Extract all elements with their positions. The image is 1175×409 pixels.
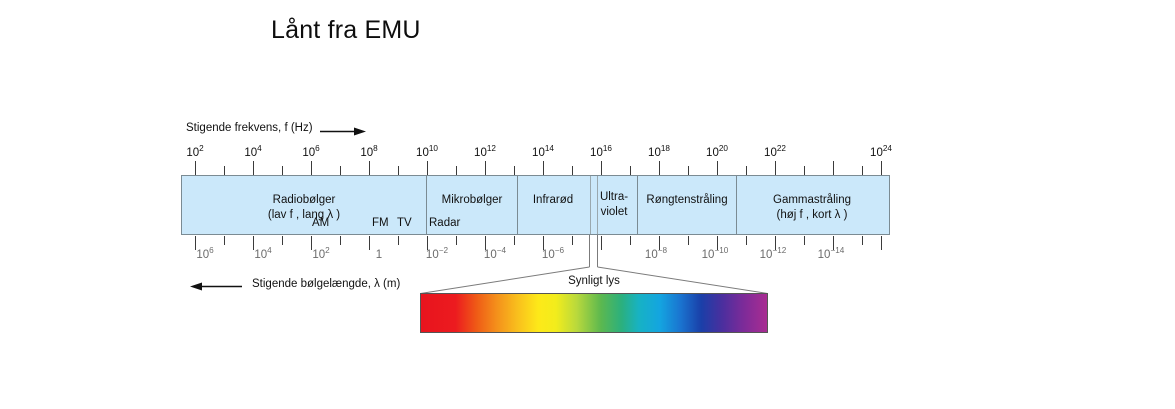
tick-minor [862,166,863,175]
band-label-infrared-main: Infrarød [533,193,573,207]
exponent: 8 [373,144,378,153]
band-label-microwave-main: Mikrobølger [442,193,503,207]
wave-tick-label: 10−12 [760,249,787,261]
tick-minor [282,236,283,245]
exponent: 16 [603,144,612,153]
visible-light-sliver [590,176,598,234]
tick-major [543,161,544,175]
band-divider-uv-xray [637,176,638,234]
mantissa: 1 [376,249,382,261]
wave-tick-label: 1 [376,249,382,261]
tick-major [195,161,196,175]
tick-major [311,236,312,250]
exponent: 10 [429,144,438,153]
exponent: −2 [439,246,448,255]
freq-tick-label: 102 [186,147,203,159]
tick-major [833,161,834,175]
tick-major [369,161,370,175]
tick-minor [398,166,399,175]
band-label-radio: Radiobølger (lav f , lang λ ) [268,193,340,223]
tick-major [369,236,370,250]
wave-tick-label: 102 [312,249,329,261]
tick-major [195,236,196,250]
marker-tv: TV [397,217,412,229]
visible-light-label: Synligt lys [568,275,620,287]
tick-minor [572,236,573,245]
wave-tick-label: 10−10 [702,249,729,261]
tick-major [427,236,428,250]
spectrum-band-bar: Radiobølger (lav f , lang λ ) Mikrobølge… [181,175,890,235]
freq-tick-label: 1010 [416,147,438,159]
exponent: 6 [209,246,214,255]
band-label-microwave: Mikrobølger [442,193,503,207]
tick-major [543,236,544,250]
tick-minor [224,166,225,175]
exponent: 4 [267,246,272,255]
frequency-arrow-icon [320,127,366,136]
wave-tick-label: 10−14 [818,249,845,261]
tick-major [881,161,882,175]
exponent: 2 [325,246,330,255]
exponent: 6 [315,144,320,153]
marker-am: AM [312,217,329,229]
freq-tick-label: 1018 [648,147,670,159]
wavelength-axis-label: Stigende bølgelængde, λ (m) [252,278,400,290]
band-label-gamma-main: Gammastråling [773,193,851,208]
tick-minor [746,236,747,245]
tick-major [311,161,312,175]
exponent: 4 [257,144,262,153]
freq-tick-label: 1016 [590,147,612,159]
exponent: −4 [497,246,506,255]
tick-major [717,161,718,175]
wave-tick-label: 10−6 [542,249,564,261]
wave-tick-label: 10−4 [484,249,506,261]
exponent: −12 [772,246,786,255]
em-spectrum-figure: Stigende frekvens, f (Hz) [0,0,1175,409]
exponent: 18 [661,144,670,153]
exponent: 14 [545,144,554,153]
freq-tick-label: 104 [244,147,261,159]
wave-tick-label: 10−2 [426,249,448,261]
tick-major [881,236,882,250]
freq-tick-label: 106 [302,147,319,159]
tick-minor [340,236,341,245]
exponent: 2 [199,144,204,153]
marker-radar: Radar [429,217,460,229]
freq-tick-label: 1014 [532,147,554,159]
tick-major [601,236,602,250]
band-label-radio-sub: (lav f , lang λ ) [268,208,340,223]
tick-major [427,161,428,175]
tick-major [485,161,486,175]
marker-fm: FM [372,217,389,229]
tick-minor [630,166,631,175]
tick-minor [688,166,689,175]
tick-major [253,236,254,250]
tick-minor [862,236,863,245]
freq-tick-label: 1024 [870,147,892,159]
tick-minor [456,236,457,245]
tick-minor [804,236,805,245]
band-label-ultraviolet: Ultra- violet [600,190,628,220]
exponent: −8 [658,246,667,255]
wavelength-arrow-icon [190,282,242,291]
tick-major [601,161,602,175]
freq-tick-label: 1012 [474,147,496,159]
tick-minor [224,236,225,245]
frequency-axis-label: Stigende frekvens, f (Hz) [186,122,313,134]
band-divider-radio-microwave [426,176,427,234]
tick-major [485,236,486,250]
tick-minor [514,166,515,175]
visible-light-spectrum-bar [420,293,768,333]
band-label-xray: Røngtenstråling [646,193,727,207]
band-label-gamma-sub: (høj f , kort λ ) [773,208,851,223]
tick-minor [804,166,805,175]
tick-minor [572,166,573,175]
band-label-uv-sub: violet [600,205,628,220]
band-divider-microwave-infrared [517,176,518,234]
band-label-xray-main: Røngtenstråling [646,193,727,207]
tick-major [775,161,776,175]
tick-minor [746,166,747,175]
tick-minor [688,236,689,245]
exponent: −10 [714,246,728,255]
tick-major [659,161,660,175]
exponent: 22 [777,144,786,153]
band-label-radio-main: Radiobølger [268,193,340,208]
band-label-uv-main: Ultra- [600,190,628,205]
freq-tick-label: 1020 [706,147,728,159]
tick-minor [630,236,631,245]
tick-major [253,161,254,175]
exponent: 24 [883,144,892,153]
tick-minor [398,236,399,245]
freq-tick-label: 108 [360,147,377,159]
exponent: −14 [830,246,844,255]
band-label-infrared: Infrarød [533,193,573,207]
band-label-gamma: Gammastråling (høj f , kort λ ) [773,193,851,223]
exponent: 20 [719,144,728,153]
wave-tick-label: 104 [254,249,271,261]
band-divider-xray-gamma [736,176,737,234]
tick-minor [456,166,457,175]
exponent: −6 [555,246,564,255]
tick-minor [514,236,515,245]
wave-tick-label: 106 [196,249,213,261]
exponent: 12 [487,144,496,153]
tick-minor [282,166,283,175]
wave-tick-label: 10−8 [645,249,667,261]
tick-minor [340,166,341,175]
freq-tick-label: 1022 [764,147,786,159]
diagram-page: Lånt fra EMU Stigende frekvens, f (Hz) [0,0,1175,409]
